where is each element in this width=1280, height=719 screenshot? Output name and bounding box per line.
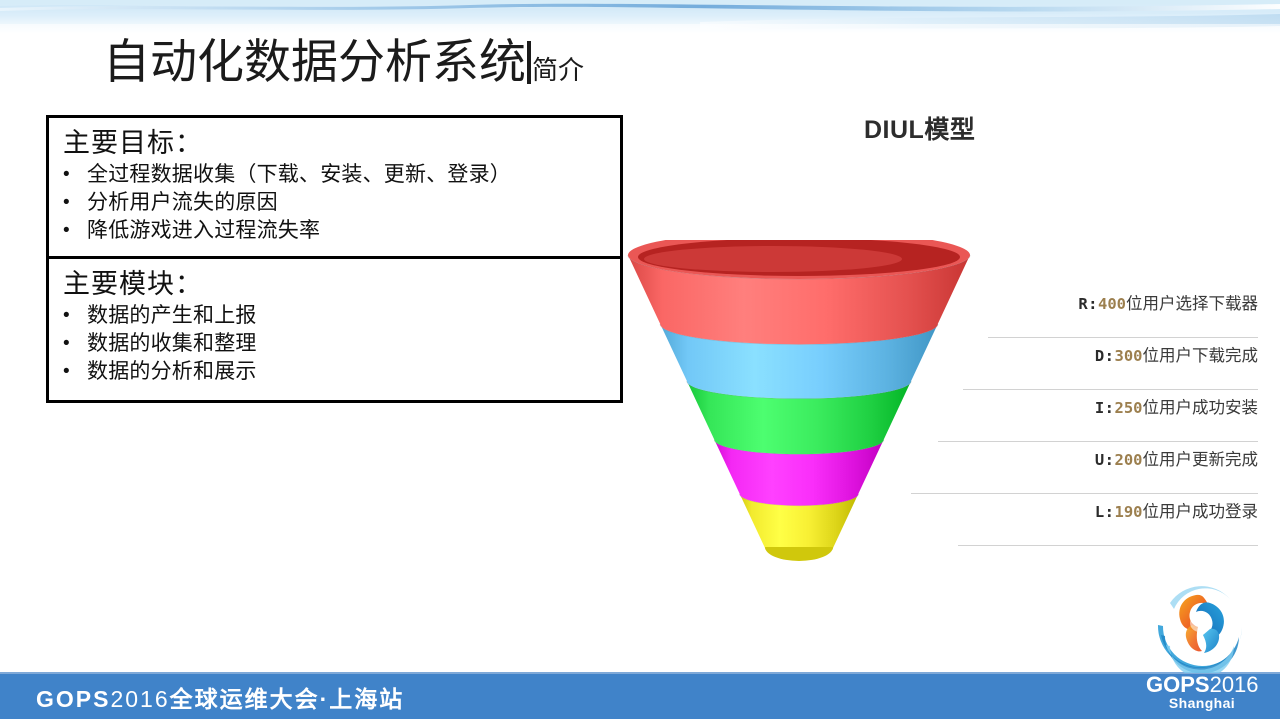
logo-brand: GOPS [1146, 672, 1210, 697]
stage-value-0: 400 [1098, 295, 1126, 313]
list-item: • 数据的收集和整理 [63, 330, 620, 358]
bullet-dot-icon: • [63, 358, 87, 386]
page-title-subtitle: 简介 [532, 57, 584, 87]
funnel-bottom-cap [765, 547, 833, 561]
info-section-modules: 主要模块： • 数据的产生和上报 • 数据的收集和整理 • 数据的分析和展示 [49, 259, 620, 400]
gops-swirl-logo-svg [1152, 577, 1248, 673]
logo-text-block: GOPS2016 Shanghai [1146, 673, 1258, 711]
stage-value-1: 300 [1115, 347, 1143, 365]
list-item: • 数据的产生和上报 [63, 302, 620, 330]
page-title: 自动化数据分析系统 简介 [103, 38, 584, 87]
funnel-label-text-3: U:200位用户更新完成 [1095, 446, 1258, 470]
stage-desc-1: 位用户下载完成 [1143, 347, 1259, 365]
funnel-label-rule-4 [958, 545, 1258, 546]
header-wave-svg [0, 0, 1280, 34]
stage-desc-0: 位用户选择下载器 [1126, 295, 1258, 313]
stage-code-0: R [1078, 295, 1088, 313]
footer-text: GOPS2016全球运维大会·上海站 [36, 680, 404, 714]
title-divider-bar [527, 41, 531, 84]
diul-model-title: DIUL模型 [864, 110, 975, 146]
stage-desc-3: 位用户更新完成 [1143, 451, 1259, 469]
stage-desc-2: 位用户成功安装 [1143, 399, 1259, 417]
stage-value-4: 190 [1115, 503, 1143, 521]
funnel-label-row-1: D:300位用户下载完成 [928, 342, 1258, 390]
funnel-top-bowl-highlight [644, 246, 902, 272]
stage-code-3: U [1095, 451, 1105, 469]
funnel-label-rule-2 [938, 441, 1258, 442]
logo-brand-line: GOPS2016 [1146, 673, 1258, 696]
section-heading-goals: 主要目标： [49, 122, 620, 161]
funnel-label-row-4: L:190位用户成功登录 [928, 498, 1258, 546]
stage-separator-2: : [1105, 399, 1115, 417]
stage-separator-0: : [1088, 295, 1098, 313]
stage-code-2: I [1095, 399, 1105, 417]
stage-code-1: D [1095, 347, 1105, 365]
funnel-label-rule-3 [911, 493, 1258, 494]
header-wave-decoration [0, 0, 1280, 34]
stage-value-3: 200 [1115, 451, 1143, 469]
footer-tagline: 全球运维大会·上海站 [170, 686, 405, 712]
funnel-label-row-2: I:250位用户成功安装 [928, 394, 1258, 442]
section-heading-modules: 主要模块： [49, 263, 620, 302]
info-section-goals: 主要目标： • 全过程数据收集（下载、安装、更新、登录） • 分析用户流失的原因… [49, 118, 620, 259]
info-box: 主要目标： • 全过程数据收集（下载、安装、更新、登录） • 分析用户流失的原因… [46, 115, 623, 403]
slide-canvas: 自动化数据分析系统 简介 主要目标： • 全过程数据收集（下载、安装、更新、登录… [0, 0, 1280, 719]
stage-desc-4: 位用户成功登录 [1143, 503, 1259, 521]
list-item: • 数据的分析和展示 [63, 358, 620, 386]
funnel-label-text-1: D:300位用户下载完成 [1095, 342, 1258, 366]
bullet-dot-icon: • [63, 302, 87, 330]
gops-logo: GOPS2016 Shanghai [1146, 577, 1258, 719]
stage-code-4: L [1095, 503, 1105, 521]
funnel-stage-labels: R:400位用户选择下载器 D:300位用户下载完成 I:250位用户成功安装 … [900, 290, 1270, 550]
stage-value-2: 250 [1115, 399, 1143, 417]
stage-separator-1: : [1105, 347, 1115, 365]
list-item-label: 全过程数据收集（下载、安装、更新、登录） [87, 161, 620, 189]
page-title-main: 自动化数据分析系统 [103, 38, 526, 87]
funnel-label-row-3: U:200位用户更新完成 [898, 446, 1258, 494]
funnel-label-text-0: R:400位用户选择下载器 [1078, 290, 1258, 314]
list-item: • 降低游戏进入过程流失率 [63, 217, 620, 245]
goals-bullet-list: • 全过程数据收集（下载、安装、更新、登录） • 分析用户流失的原因 • 降低游… [49, 161, 620, 245]
logo-city: Shanghai [1146, 696, 1258, 711]
gops-swirl-logo-icon [1152, 577, 1248, 673]
list-item-label: 降低游戏进入过程流失率 [87, 217, 620, 245]
footer-brand: GOPS [36, 686, 110, 712]
footer-year: 2016 [110, 686, 169, 712]
list-item-label: 数据的收集和整理 [87, 330, 620, 358]
funnel-label-text-4: L:190位用户成功登录 [1095, 498, 1258, 522]
funnel-label-text-2: I:250位用户成功安装 [1095, 394, 1258, 418]
footer-bar: GOPS2016全球运维大会·上海站 [0, 672, 1280, 719]
logo-year: 2016 [1210, 672, 1259, 697]
bullet-dot-icon: • [63, 330, 87, 358]
funnel-label-rule-1 [963, 389, 1258, 390]
stage-separator-3: : [1105, 451, 1115, 469]
funnel-label-rule-0 [988, 337, 1258, 338]
bullet-dot-icon: • [63, 217, 87, 245]
list-item-label: 数据的分析和展示 [87, 358, 620, 386]
list-item-label: 分析用户流失的原因 [87, 189, 620, 217]
stage-separator-4: : [1105, 503, 1115, 521]
list-item: • 分析用户流失的原因 [63, 189, 620, 217]
list-item-label: 数据的产生和上报 [87, 302, 620, 330]
bullet-dot-icon: • [63, 161, 87, 189]
list-item: • 全过程数据收集（下载、安装、更新、登录） [63, 161, 620, 189]
bullet-dot-icon: • [63, 189, 87, 217]
funnel-label-row-0: R:400位用户选择下载器 [928, 290, 1258, 338]
modules-bullet-list: • 数据的产生和上报 • 数据的收集和整理 • 数据的分析和展示 [49, 302, 620, 386]
